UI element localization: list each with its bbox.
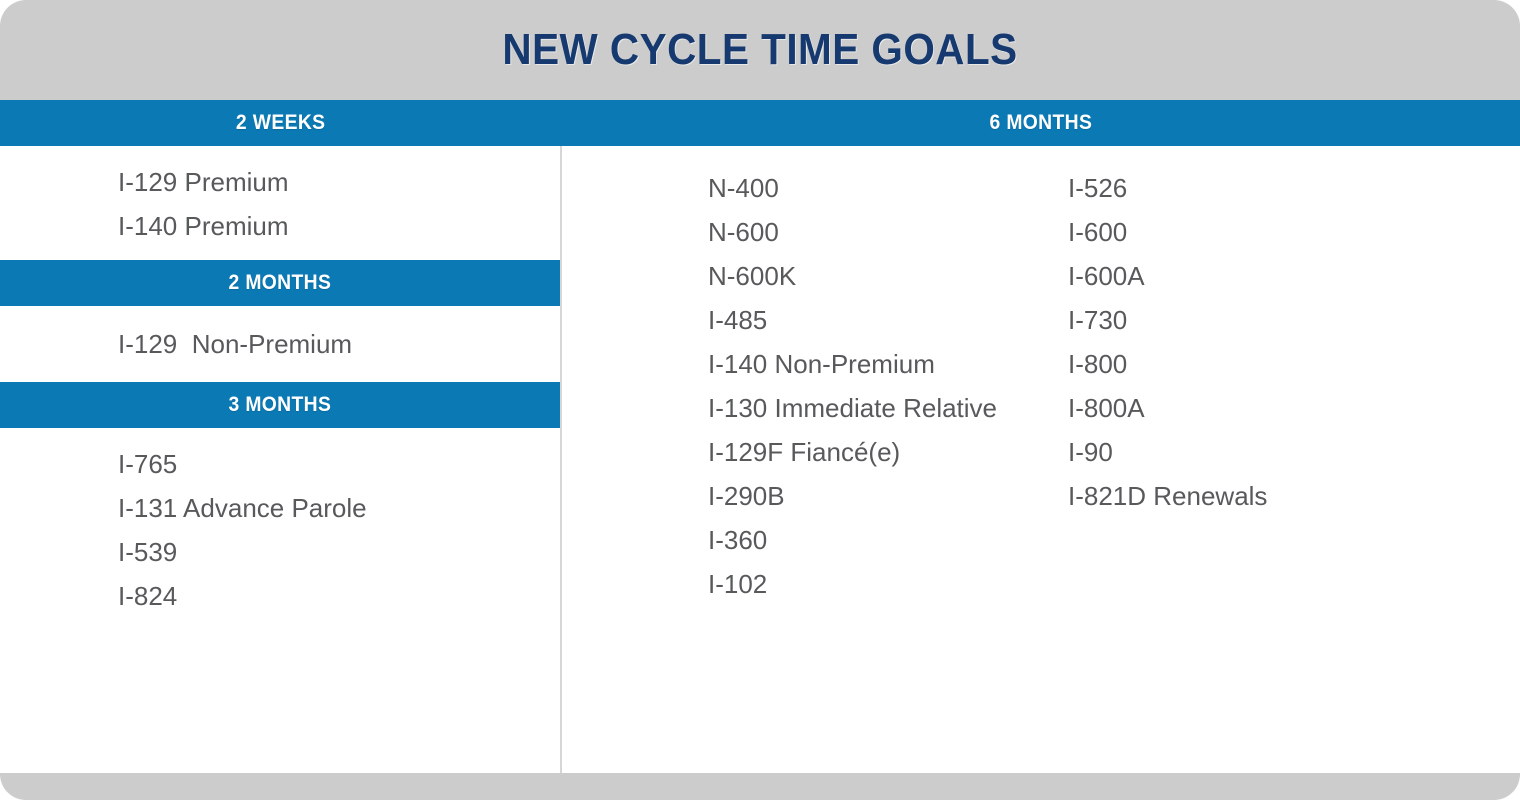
list-two-weeks: I-129 Premium I-140 Premium bbox=[0, 146, 560, 260]
list-two-months: I-129 Non-Premium bbox=[0, 306, 560, 382]
list-item: I-485 bbox=[708, 298, 1014, 342]
list-item: I-90 bbox=[1068, 430, 1520, 474]
list-item: I-526 bbox=[1068, 166, 1520, 210]
page-title: NEW CYCLE TIME GOALS bbox=[502, 25, 1017, 75]
column-header-row: 2 WEEKS 6 MONTHS bbox=[0, 100, 1520, 146]
list-item: I-140 Non-Premium bbox=[708, 342, 1014, 386]
list-item: I-129F Fiancé(e) bbox=[708, 430, 1014, 474]
list-item: I-800A bbox=[1068, 386, 1520, 430]
list-item: I-140 Premium bbox=[118, 204, 560, 248]
list-six-months-a: N-400 N-600 N-600K I-485 I-140 Non-Premi… bbox=[708, 160, 1014, 618]
footer-band bbox=[0, 773, 1520, 800]
list-item: N-600 bbox=[708, 210, 1014, 254]
list-item: I-360 bbox=[708, 518, 1014, 562]
cycle-time-goals-infographic: NEW CYCLE TIME GOALS 2 WEEKS 6 MONTHS I-… bbox=[0, 0, 1520, 800]
list-item: I-730 bbox=[1068, 298, 1520, 342]
list-item: I-600 bbox=[1068, 210, 1520, 254]
list-item: I-290B bbox=[708, 474, 1014, 518]
list-item: I-102 bbox=[708, 562, 1014, 606]
list-item: I-821D Renewals bbox=[1068, 474, 1520, 518]
column-header-six-months: 6 MONTHS bbox=[562, 100, 1520, 146]
list-six-months-b: I-526 I-600 I-600A I-730 I-800 I-800A I-… bbox=[1068, 160, 1520, 530]
column-header-six-months-label: 6 MONTHS bbox=[990, 111, 1093, 135]
list-item: N-600K bbox=[708, 254, 1014, 298]
list-item: I-824 bbox=[118, 574, 560, 618]
section-bar-three-months-label: 3 MONTHS bbox=[229, 393, 332, 417]
list-item: I-765 bbox=[118, 442, 560, 486]
list-item: N-400 bbox=[708, 166, 1014, 210]
section-bar-two-months-label: 2 MONTHS bbox=[229, 271, 332, 295]
six-months-sub-column-2: I-526 I-600 I-600A I-730 I-800 I-800A I-… bbox=[1014, 160, 1520, 773]
section-bar-three-months: 3 MONTHS bbox=[0, 382, 560, 428]
column-header-two-weeks-label: 2 WEEKS bbox=[236, 111, 326, 135]
list-item: I-130 Immediate Relative bbox=[708, 386, 1014, 430]
left-column: I-129 Premium I-140 Premium 2 MONTHS I-1… bbox=[0, 146, 562, 773]
six-months-sub-column-1: N-400 N-600 N-600K I-485 I-140 Non-Premi… bbox=[562, 160, 1014, 773]
right-column: N-400 N-600 N-600K I-485 I-140 Non-Premi… bbox=[562, 146, 1520, 773]
title-band: NEW CYCLE TIME GOALS bbox=[0, 0, 1520, 100]
list-item: I-131 Advance Parole bbox=[118, 486, 560, 530]
list-item: I-539 bbox=[118, 530, 560, 574]
body-area: I-129 Premium I-140 Premium 2 MONTHS I-1… bbox=[0, 146, 1520, 773]
column-header-two-weeks: 2 WEEKS bbox=[0, 100, 562, 146]
list-item: I-129 Non-Premium bbox=[118, 322, 560, 366]
list-item: I-800 bbox=[1068, 342, 1520, 386]
list-three-months: I-765 I-131 Advance Parole I-539 I-824 bbox=[0, 428, 560, 630]
list-item: I-600A bbox=[1068, 254, 1520, 298]
section-bar-two-months: 2 MONTHS bbox=[0, 260, 560, 306]
list-item: I-129 Premium bbox=[118, 160, 560, 204]
